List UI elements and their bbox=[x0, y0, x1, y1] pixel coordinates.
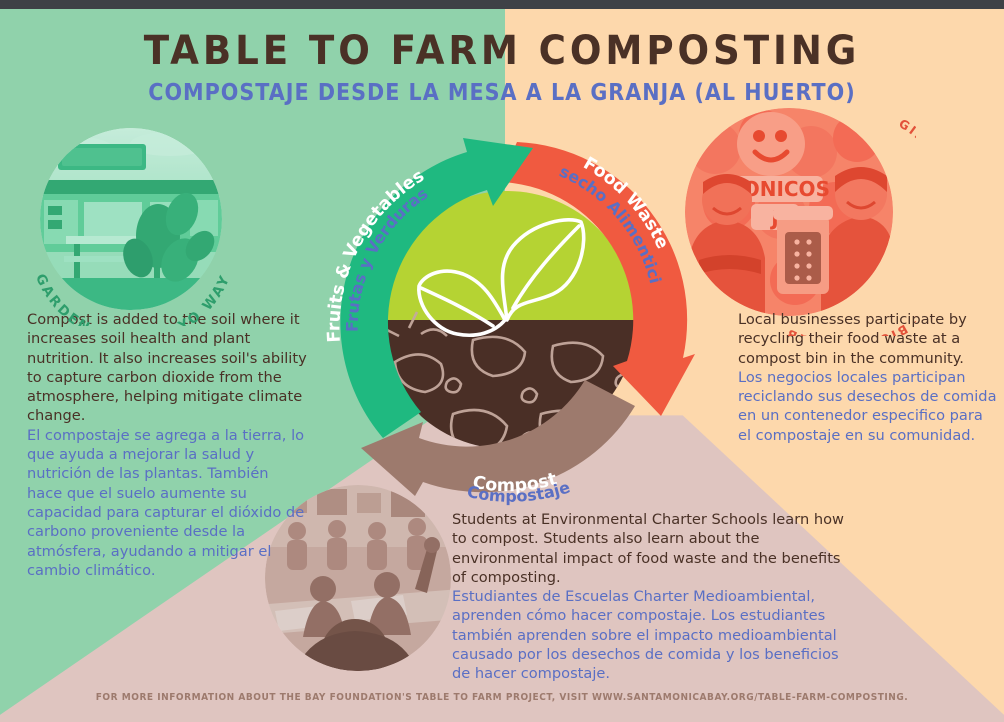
top-bar bbox=[0, 0, 1004, 9]
page-title: TABLE TO FARM COMPOSTING bbox=[35, 28, 969, 74]
copy-bottom-spanish: Estudiantes de Escuelas Charter Medioamb… bbox=[452, 587, 852, 683]
photo-local-business: BIONICOS J bbox=[685, 108, 893, 316]
composting-cycle-diagram: Food Waste Desecho Alimenticio Compost C… bbox=[317, 130, 697, 510]
copy-bottom-english: Students at Environmental Charter School… bbox=[452, 510, 852, 587]
page-subtitle: COMPOSTAJE DESDE LA MESA A LA GRANJA (AL… bbox=[50, 80, 954, 106]
footer-note: FOR MORE INFORMATION ABOUT THE BAY FOUND… bbox=[25, 692, 979, 703]
copy-right-spanish: Los negocios locales participan reciclan… bbox=[738, 368, 1000, 445]
copy-left-spanish: El compostaje se agrega a la tierra, lo … bbox=[27, 426, 307, 580]
infographic-poster: TABLE TO FARM COMPOSTING COMPOSTAJE DESD… bbox=[0, 0, 1004, 722]
copy-left-english: Compost is added to the soil where it in… bbox=[27, 310, 307, 426]
business-photo-graphic: BIONICOS J bbox=[685, 108, 893, 316]
copy-block-right: Local businesses participate by recyclin… bbox=[738, 310, 1000, 445]
copy-block-left: Compost is added to the soil where it in… bbox=[27, 310, 307, 580]
photo-garden-beds bbox=[40, 128, 222, 310]
copy-block-bottom: Students at Environmental Charter School… bbox=[452, 510, 852, 684]
copy-right-english: Local businesses participate by recyclin… bbox=[738, 310, 1000, 368]
garden-photo-graphic bbox=[40, 128, 222, 310]
